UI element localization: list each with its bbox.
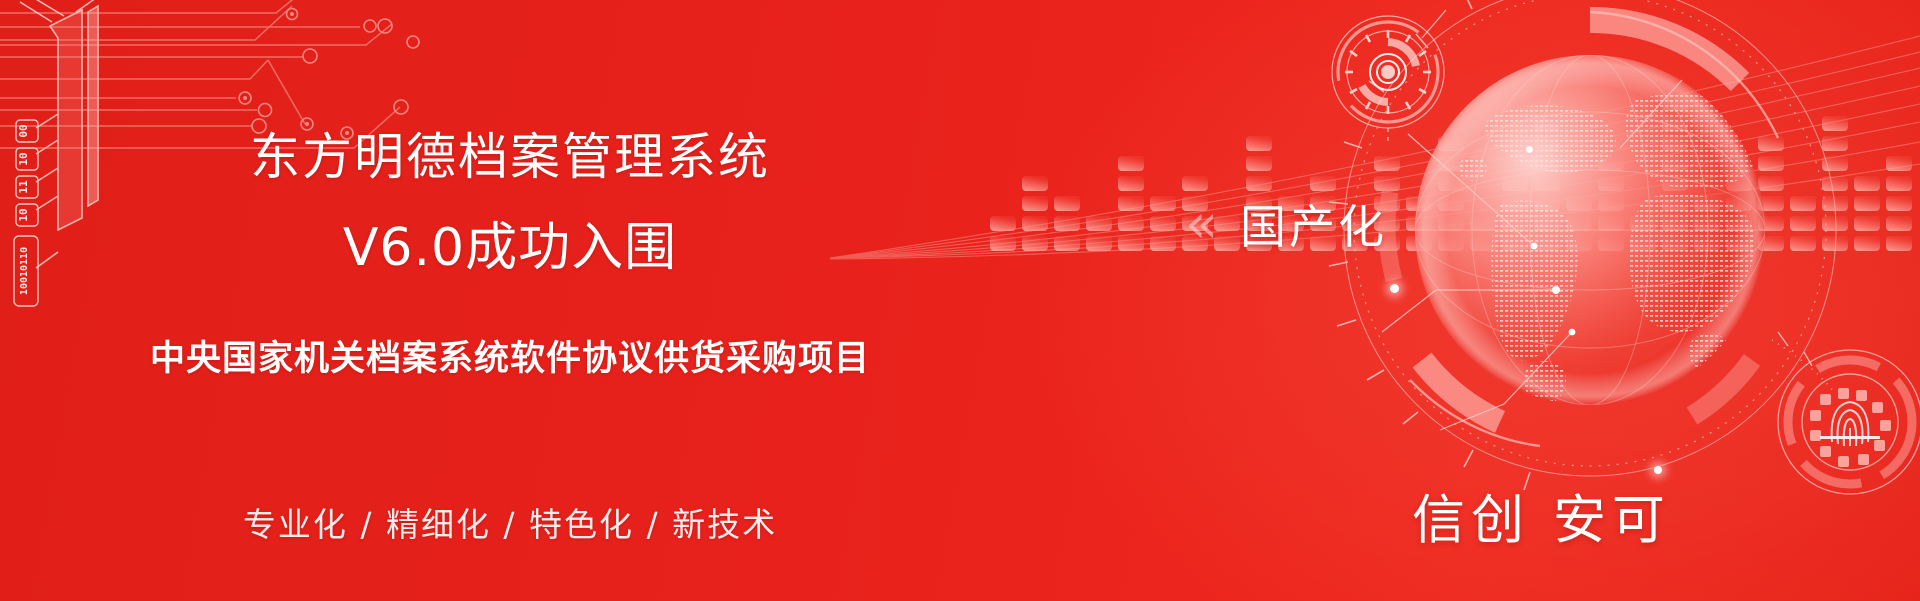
- hud-dial-icon: [1318, 8, 1458, 148]
- fingerprint-scanner-icon: [1760, 330, 1920, 505]
- project-subtitle: 中央国家机关档案系统软件协议供货采购项目: [0, 342, 1020, 377]
- domestic-label-group: « 国产化: [1185, 200, 1387, 254]
- pixel-mosaic-icon: [980, 0, 1920, 260]
- double-chevron-left-icon: «: [1185, 197, 1212, 251]
- node-dot-1: [1390, 284, 1399, 293]
- version-heading: V6.0成功入围: [0, 222, 1020, 274]
- page-title: 东方明德档案管理系统: [0, 132, 1020, 182]
- node-dot-2: [1654, 466, 1662, 474]
- domestic-label: 国产化: [1240, 204, 1387, 250]
- slogan-text: 专业化 / 精细化 / 特色化 / 新技术: [0, 508, 1020, 541]
- headline-block: 东方明德档案管理系统 V6.0成功入围 中央国家机关档案系统软件协议供货采购项目…: [0, 0, 1020, 601]
- node-dot-3: [1526, 146, 1533, 153]
- promo-banner: 00 10 11 10 10010110 东方明德档案管理系统 V6.0成功入围…: [0, 0, 1920, 601]
- globe-hologram-icon: [1290, 0, 1850, 520]
- xinchuang-label: 信创 安可: [1412, 494, 1671, 547]
